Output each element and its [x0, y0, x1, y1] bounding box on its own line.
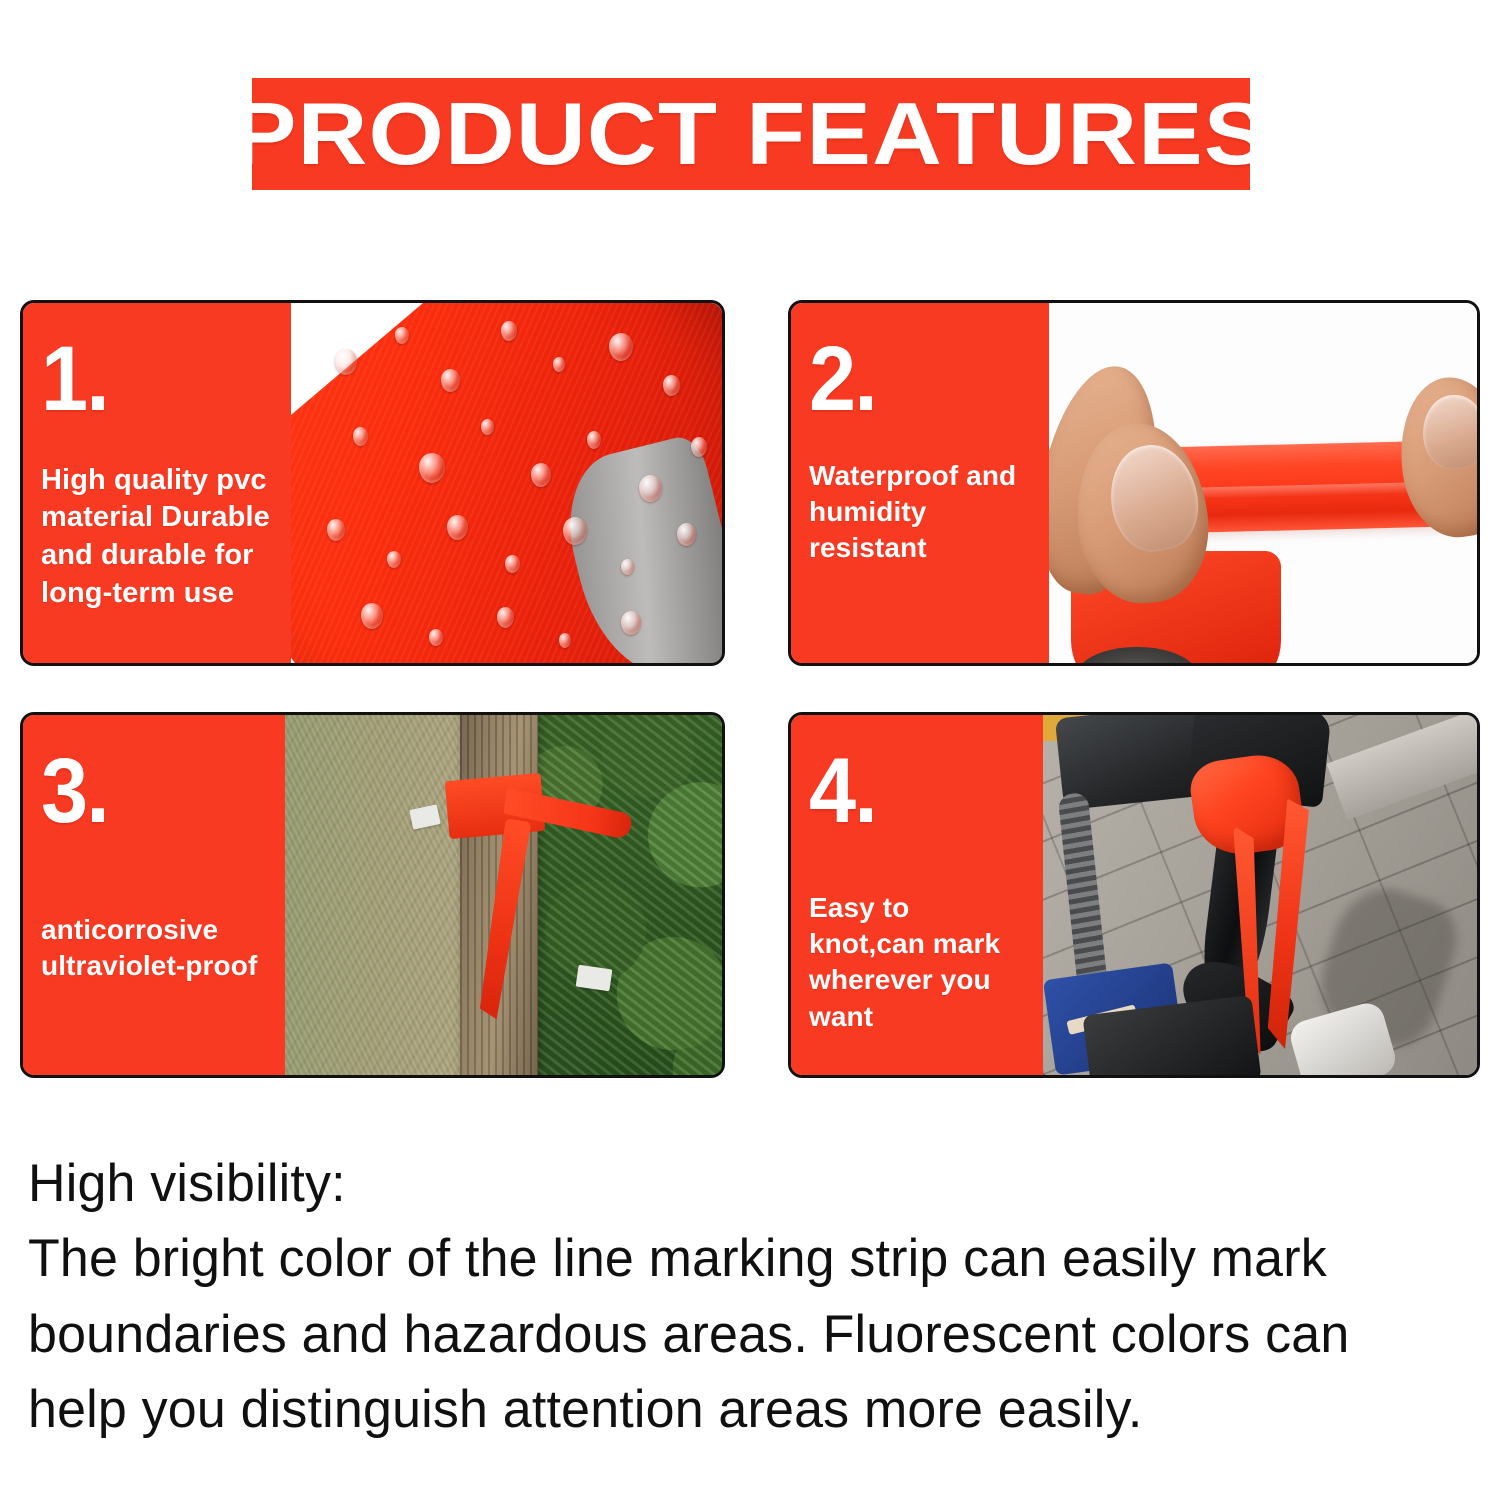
feature-photo-1 — [291, 303, 722, 663]
ground-litter — [576, 965, 613, 992]
feature-card-4: 4. Easy to knot,can mark wherever you wa… — [788, 712, 1480, 1078]
feature-caption-2: Waterproof and humidity resistant — [809, 458, 1035, 567]
feature-card-grid: 1. High quality pvc material Durable and… — [20, 300, 1480, 1080]
feature-number-3: 3. — [41, 749, 253, 834]
feature-photo-4 — [1043, 715, 1477, 1075]
feature-label-panel-1: 1. High quality pvc material Durable and… — [23, 303, 291, 663]
title-banner: PRODUCT FEATURES — [252, 78, 1250, 190]
feature-label-panel-3: 3. anticorrosive ultraviolet-proof — [23, 715, 285, 1075]
feature-card-2: 2. Waterproof and humidity resistant — [788, 300, 1480, 666]
green-bush — [522, 715, 722, 1075]
feature-photo-2 — [1049, 303, 1477, 663]
product-features-infographic: PRODUCT FEATURES 1. High quality pvc mat… — [0, 0, 1500, 1500]
feature-label-panel-2: 2. Waterproof and humidity resistant — [791, 303, 1049, 663]
feature-caption-4: Easy to knot,can mark wherever you want — [809, 890, 1029, 1036]
feature-card-1: 1. High quality pvc material Durable and… — [20, 300, 725, 666]
page-title: PRODUCT FEATURES — [252, 90, 1250, 178]
feature-label-panel-4: 4. Easy to knot,can mark wherever you wa… — [791, 715, 1043, 1075]
description-heading: High visibility: — [28, 1146, 1443, 1221]
description-line-1: The bright color of the line marking str… — [28, 1221, 1443, 1296]
feature-caption-3: anticorrosive ultraviolet-proof — [41, 912, 271, 985]
feature-caption-1: High quality pvc material Durable and du… — [41, 462, 277, 613]
description-line-2: boundaries and hazardous areas. Fluoresc… — [28, 1297, 1443, 1372]
description-line-3: help you distinguish attention areas mor… — [28, 1372, 1443, 1447]
feature-number-1: 1. — [41, 337, 258, 422]
feature-number-4: 4. — [809, 749, 1011, 834]
feature-number-2: 2. — [809, 337, 1017, 422]
feature-card-3: 3. anticorrosive ultraviolet-proof — [20, 712, 725, 1078]
description-block: High visibility: The bright color of the… — [28, 1146, 1472, 1447]
feature-photo-3 — [285, 715, 722, 1075]
